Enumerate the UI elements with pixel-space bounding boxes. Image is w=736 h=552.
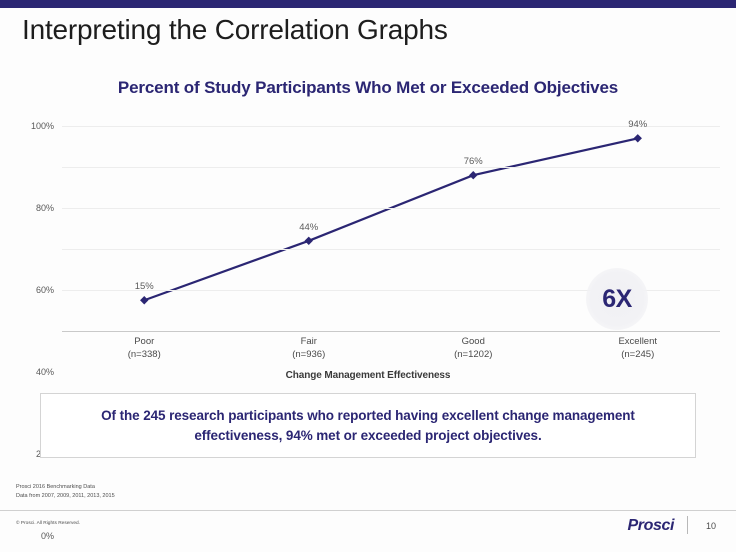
source-line-2: Data from 2007, 2009, 2011, 2013, 2015	[16, 492, 115, 501]
data-point-label: 94%	[628, 119, 647, 130]
gridline: 40%	[62, 249, 720, 250]
x-axis-category: Fair(n=936)	[227, 336, 392, 362]
x-axis-category: Excellent(n=245)	[556, 336, 721, 362]
gridline: 0%	[62, 331, 720, 332]
x-axis-category-name: Poor	[134, 336, 154, 347]
y-axis-tick-label: 60%	[36, 285, 54, 295]
data-point-marker	[140, 296, 148, 304]
callout-text: Of the 245 research participants who rep…	[41, 406, 695, 445]
chart-title: Percent of Study Participants Who Met or…	[0, 78, 736, 98]
series-line	[144, 138, 638, 300]
gridline: 80%	[62, 167, 720, 168]
footer-divider	[0, 510, 736, 511]
footer-vertical-divider	[687, 516, 688, 534]
x-axis-category: Good(n=1202)	[391, 336, 556, 362]
x-axis-title: Change Management Effectiveness	[0, 370, 736, 381]
gridline: 100%	[62, 126, 720, 127]
multiplier-badge: 6X	[586, 268, 648, 330]
y-axis-tick-label: 80%	[36, 203, 54, 213]
y-axis-tick-label: 100%	[31, 121, 54, 131]
source-note: Prosci 2016 Benchmarking Data Data from …	[16, 483, 115, 500]
x-axis-category-count: (n=1202)	[391, 349, 556, 362]
data-point-label: 76%	[464, 156, 483, 167]
page-number: 10	[706, 521, 716, 531]
x-axis-category-name: Good	[462, 336, 485, 347]
copyright-text: © Prosci. All Rights Reserved.	[16, 521, 80, 526]
page-title: Interpreting the Correlation Graphs	[22, 14, 448, 46]
data-point-marker	[305, 237, 313, 245]
data-point-marker	[469, 171, 477, 179]
x-axis-category-count: (n=338)	[62, 349, 227, 362]
y-axis-tick-label: 0%	[41, 531, 54, 541]
data-point-marker	[634, 134, 642, 142]
multiplier-badge-label: 6X	[602, 285, 632, 314]
correlation-chart: 0%20%40%60%80%100%15%44%76%94% 6X Poor(n…	[0, 112, 736, 377]
x-axis-category-name: Excellent	[618, 336, 657, 347]
x-axis-category-count: (n=245)	[556, 349, 721, 362]
data-point-label: 15%	[135, 281, 154, 292]
x-axis-category-name: Fair	[301, 336, 317, 347]
prosci-logo: Prosci	[627, 517, 674, 535]
source-line-1: Prosci 2016 Benchmarking Data	[16, 483, 115, 492]
callout-box: Of the 245 research participants who rep…	[40, 393, 696, 458]
slide: Interpreting the Correlation Graphs Perc…	[0, 0, 736, 552]
x-axis-labels: Poor(n=338)Fair(n=936)Good(n=1202)Excell…	[62, 336, 720, 362]
data-point-label: 44%	[299, 222, 318, 233]
gridline: 60%	[62, 208, 720, 209]
top-accent-bar	[0, 0, 736, 8]
x-axis-category: Poor(n=338)	[62, 336, 227, 362]
x-axis-category-count: (n=936)	[227, 349, 392, 362]
